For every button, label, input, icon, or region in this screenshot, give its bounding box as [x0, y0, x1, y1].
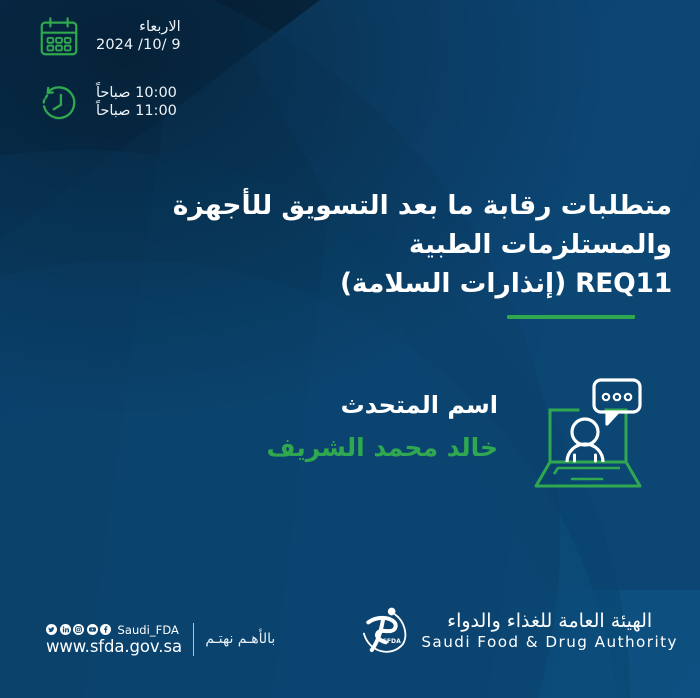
clock-icon — [36, 80, 82, 126]
speaker-block: اسم المتحدث خالد محمد الشريف — [48, 370, 648, 490]
event-meta: الاربعاء 9 /10/ 2024 10:00 صباحاً 11:00 … — [36, 14, 226, 146]
event-weekday: الاربعاء — [96, 19, 181, 37]
footer-separator — [193, 623, 194, 656]
page-title-line-2: REQ11 (إنذارات السلامة) — [28, 264, 672, 303]
social-block: Saudi_FDA www.sfda.gov.sa — [46, 623, 182, 656]
webinar-presenter-icon — [528, 370, 648, 490]
event-time-start: 10:00 صباحاً — [96, 85, 177, 103]
event-date-text: الاربعاء 9 /10/ 2024 — [96, 19, 181, 54]
facebook-icon[interactable] — [100, 624, 111, 635]
social-handle: Saudi_FDA — [118, 623, 179, 637]
sfda-logo-words: الهيئة العامة للغذاء والدواء Saudi Food … — [421, 610, 678, 652]
calendar-icon — [36, 14, 82, 60]
youtube-icon[interactable] — [87, 624, 98, 635]
sfda-logo-arabic: الهيئة العامة للغذاء والدواء — [421, 610, 678, 632]
linkedin-icon[interactable] — [60, 624, 71, 635]
event-time-text: 10:00 صباحاً 11:00 صباحاً — [96, 85, 177, 120]
page-title: متطلبات رقابة ما بعد التسويق للأجهزة وال… — [28, 186, 672, 304]
speaker-text: اسم المتحدث خالد محمد الشريف — [267, 387, 498, 473]
social-row: Saudi_FDA — [46, 623, 182, 637]
slogan: بالأهـم نهتـم — [205, 631, 275, 647]
webinar-announcement-poster: الاربعاء 9 /10/ 2024 10:00 صباحاً 11:00 … — [0, 0, 700, 698]
poster-content: الاربعاء 9 /10/ 2024 10:00 صباحاً 11:00 … — [0, 0, 700, 698]
website-url[interactable]: www.sfda.gov.sa — [46, 638, 182, 656]
event-time-row: 10:00 صباحاً 11:00 صباحاً — [36, 80, 226, 126]
sfda-logo: SFDA الهيئة العامة للغذاء والدواء Saudi … — [357, 602, 678, 660]
sfda-logo-english: Saudi Food & Drug Authority — [421, 633, 678, 652]
event-date-row: الاربعاء 9 /10/ 2024 — [36, 14, 226, 60]
twitter-icon[interactable] — [46, 624, 57, 635]
speaker-name: خالد محمد الشريف — [267, 429, 498, 467]
event-date: 9 /10/ 2024 — [96, 37, 181, 55]
sfda-logo-mark: SFDA — [357, 602, 409, 660]
sfda-logo-mark-text: SFDA — [383, 638, 402, 645]
footer-contact: Saudi_FDA www.sfda.gov.sa بالأهـم نهتـم — [46, 623, 275, 656]
page-title-line-1: متطلبات رقابة ما بعد التسويق للأجهزة وال… — [28, 186, 672, 264]
instagram-icon[interactable] — [73, 624, 84, 635]
green-divider — [507, 315, 635, 319]
event-time-end: 11:00 صباحاً — [96, 103, 177, 121]
speaker-label: اسم المتحدث — [267, 387, 498, 423]
